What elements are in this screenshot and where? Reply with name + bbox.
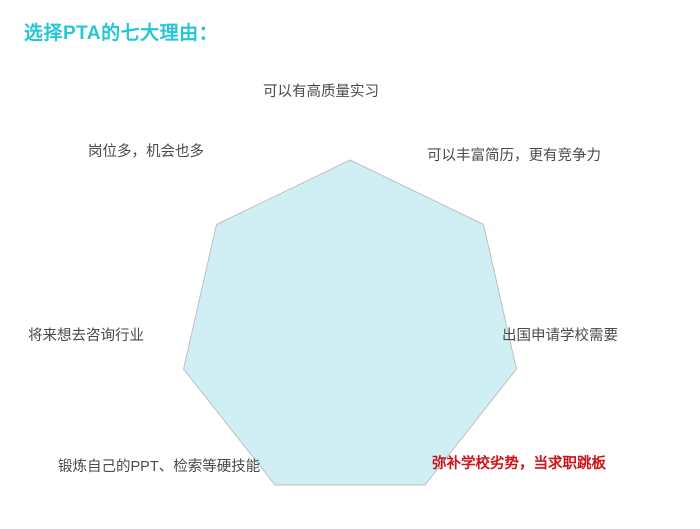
axis-label-2: 出国申请学校需要 bbox=[502, 328, 618, 345]
radar-chart-svg bbox=[0, 0, 700, 524]
axis-label-3: 弥补学校劣势，当求职跳板 bbox=[432, 456, 606, 473]
axis-label-4: 锻炼自己的PPT、检索等硬技能 bbox=[58, 459, 260, 476]
axis-label-1: 可以丰富简历，更有竞争力 bbox=[427, 148, 601, 165]
axis-label-0: 可以有高质量实习 bbox=[263, 84, 379, 101]
axis-label-5: 将来想去咨询行业 bbox=[28, 328, 144, 345]
axis-label-6: 岗位多，机会也多 bbox=[88, 144, 204, 161]
radar-series-area bbox=[184, 160, 517, 485]
radar-chart: 可以有高质量实习 可以丰富简历，更有竞争力 出国申请学校需要 弥补学校劣势，当求… bbox=[0, 0, 700, 524]
